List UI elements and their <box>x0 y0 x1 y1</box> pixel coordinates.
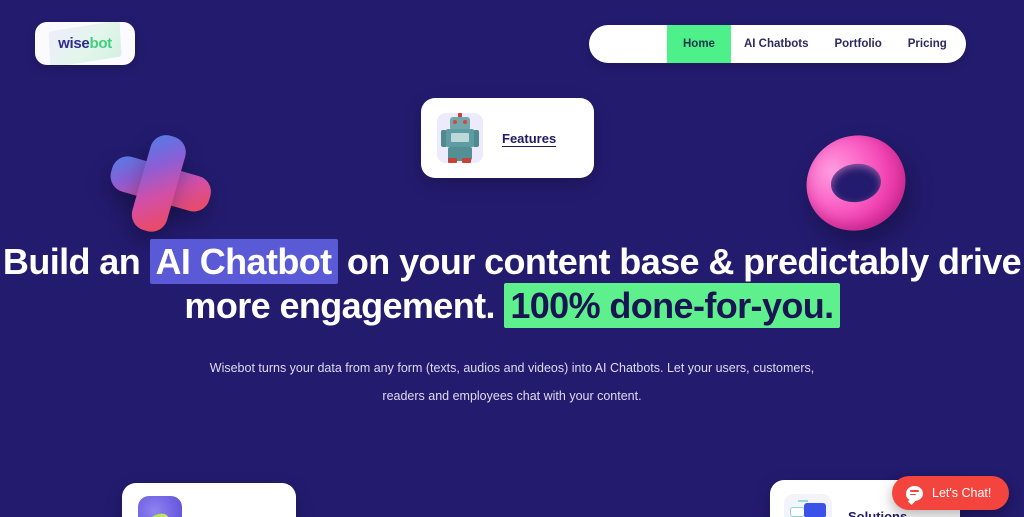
nav-item-home[interactable]: Home <box>667 25 731 63</box>
nav-item-pricing[interactable]: Pricing <box>895 25 960 63</box>
diagram-box-filled <box>804 503 826 517</box>
robot-eye-right <box>463 120 467 124</box>
lets-chat-label: Let's Chat! <box>932 486 991 500</box>
nav-item-portfolio[interactable]: Portfolio <box>821 25 894 63</box>
headline-text-1: Build an <box>3 241 150 282</box>
headline-highlight-done-for-you: 100% done-for-you. <box>504 283 839 328</box>
diagram-box-outline-left <box>790 507 805 517</box>
logo-wordmark: wisebot <box>58 35 112 52</box>
robot-chest-panel <box>451 133 469 142</box>
robot-foot-right <box>462 158 471 163</box>
solutions-card-label[interactable]: Solutions <box>848 509 907 517</box>
diagram-connector-line <box>798 500 808 502</box>
main-navigation: Home AI Chatbots Portfolio Pricing <box>589 25 966 63</box>
hero-subtitle: Wisebot turns your data from any form (t… <box>192 354 832 410</box>
chat-bubble-line-2 <box>910 494 916 496</box>
logo-text-wise: wise <box>58 35 89 52</box>
leaf-icon <box>149 512 169 517</box>
decorative-3d-torus <box>790 119 921 247</box>
bottom-left-card-icon <box>138 496 182 517</box>
hero-section: Build an AI Chatbot on your content base… <box>0 240 1024 410</box>
features-card[interactable]: Features <box>421 98 594 178</box>
nav-left-spacer <box>589 25 667 63</box>
decorative-3d-cross <box>96 120 225 245</box>
page-title: Build an AI Chatbot on your content base… <box>0 240 1024 328</box>
torus-ring <box>790 119 921 247</box>
features-card-label[interactable]: Features <box>502 131 556 146</box>
nav-item-ai-chatbots[interactable]: AI Chatbots <box>731 25 822 63</box>
lets-chat-button[interactable]: Let's Chat! <box>892 476 1009 510</box>
bottom-left-card[interactable] <box>122 483 296 517</box>
logo-text-bot: bot <box>89 35 111 52</box>
landing-page-hero: wisebot Home AI Chatbots Portfolio Prici… <box>0 0 1024 517</box>
solutions-card-icon <box>784 494 832 517</box>
chat-bubble-line-1 <box>910 490 919 492</box>
brand-logo[interactable]: wisebot <box>35 22 135 65</box>
robot-foot-left <box>448 158 457 163</box>
chat-bubble-icon <box>906 486 923 501</box>
robot-eye-left <box>453 120 457 124</box>
robot-toy-icon <box>437 113 483 163</box>
headline-highlight-ai-chatbot: AI Chatbot <box>150 239 338 284</box>
torus-hole <box>829 161 884 205</box>
